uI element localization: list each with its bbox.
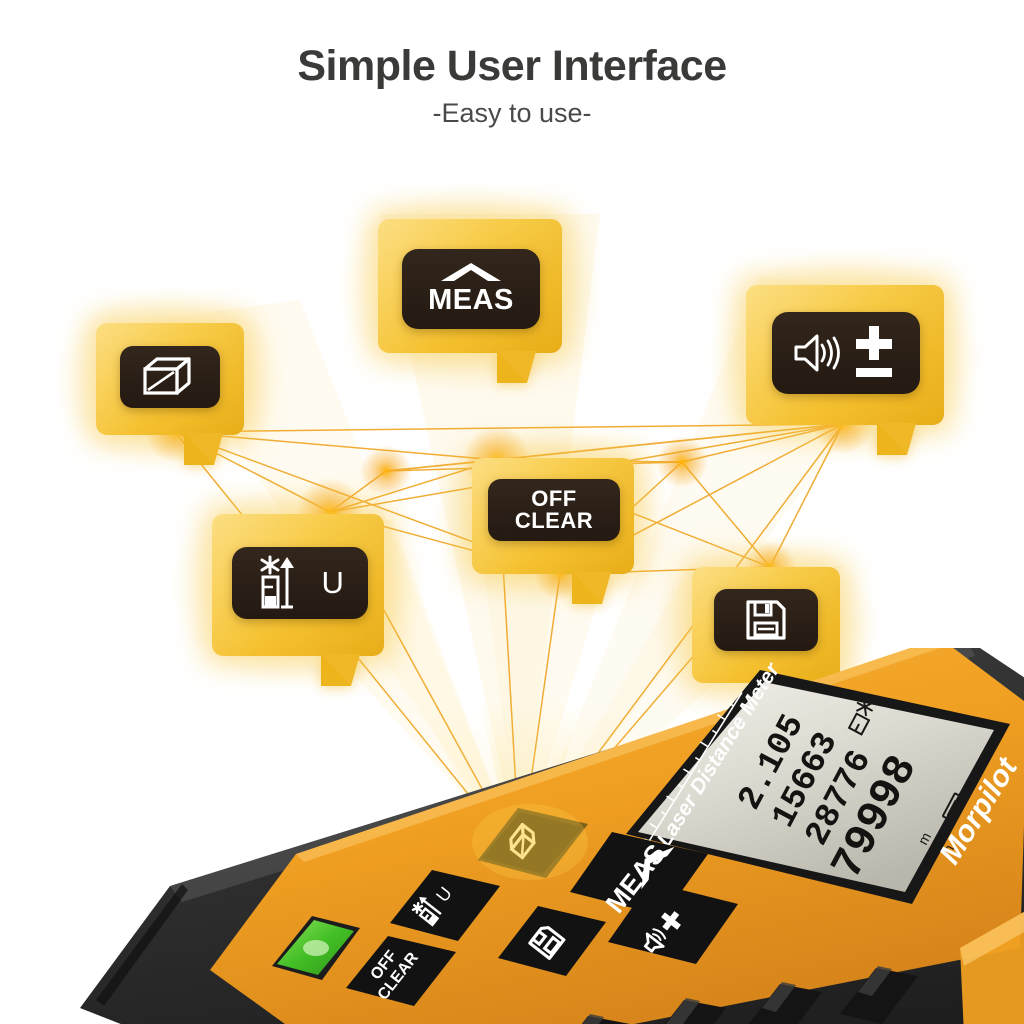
speaker-icon bbox=[792, 331, 840, 375]
floppy-disk-icon bbox=[745, 599, 787, 641]
off-clear-button[interactable]: OFF CLEAR bbox=[488, 479, 620, 541]
reference-unit-button[interactable]: U bbox=[232, 547, 368, 619]
laser-distance-meter-device: 2.105 15663 28776 79998 m m bbox=[60, 648, 1024, 1024]
volume-area-button[interactable]: Area / volume measurement key bbox=[120, 346, 220, 408]
unit-label: U bbox=[322, 567, 345, 599]
laser-reference-icon bbox=[256, 555, 310, 611]
box-volume-icon bbox=[141, 355, 199, 399]
sound-plus-minus-button[interactable]: Buzzer and add / subtract key bbox=[772, 312, 920, 394]
plus-minus-icon bbox=[850, 324, 900, 382]
save-memory-button[interactable]: Save / memory key bbox=[714, 589, 818, 651]
callout-unit[interactable]: U bbox=[212, 514, 384, 656]
callout-volume[interactable]: Area / volume measurement key bbox=[96, 323, 244, 435]
clear-label: CLEAR bbox=[515, 510, 593, 532]
off-label: OFF bbox=[531, 488, 577, 510]
meas-label: MEAS bbox=[428, 286, 514, 316]
device-key-volume[interactable] bbox=[472, 804, 588, 880]
callout-off-clear[interactable]: OFF CLEAR bbox=[472, 458, 634, 574]
poster-canvas: Simple User Interface -Easy to use- bbox=[0, 0, 1024, 1024]
callout-sound[interactable]: Buzzer and add / subtract key bbox=[746, 285, 944, 425]
callout-meas[interactable]: MEAS bbox=[378, 219, 562, 353]
meas-button[interactable]: MEAS bbox=[402, 249, 540, 329]
triangle-up-icon bbox=[440, 262, 502, 284]
